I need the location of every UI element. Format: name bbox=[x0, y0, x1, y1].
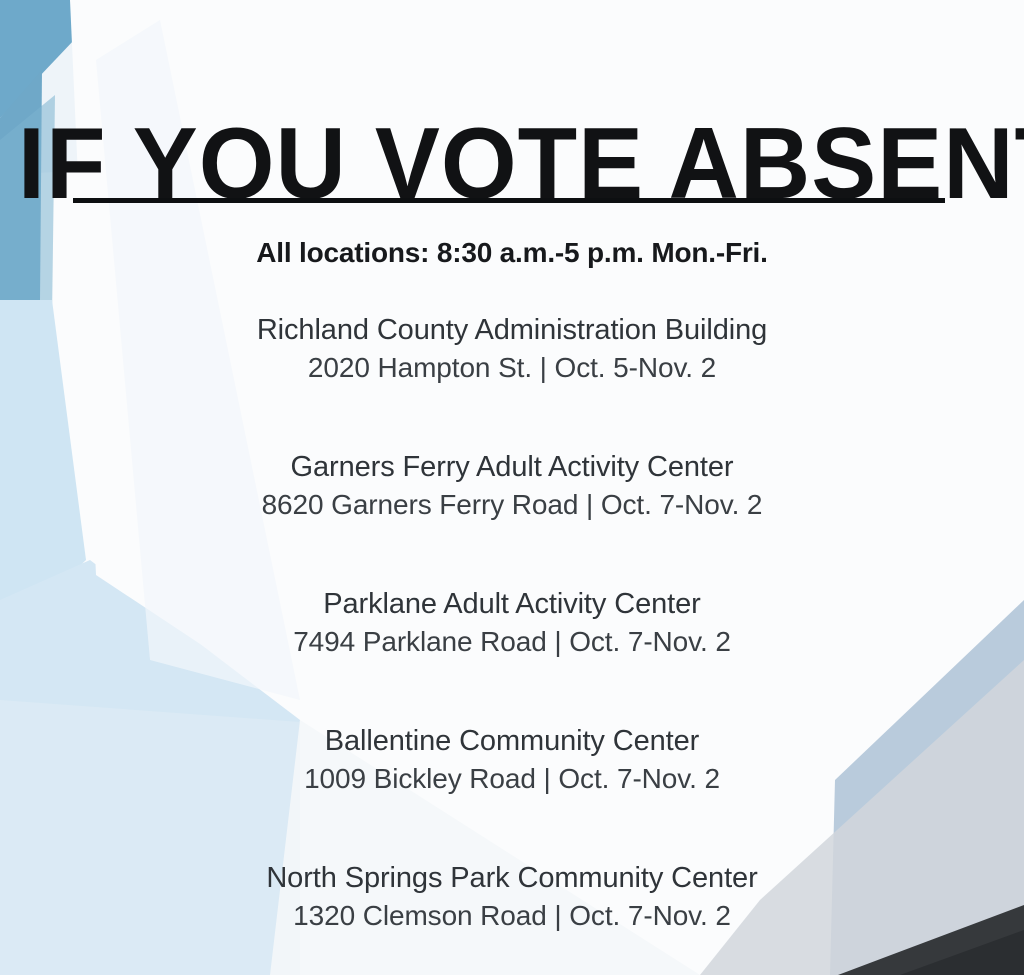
list-item: Richland County Administration Building … bbox=[0, 311, 1024, 386]
location-name: Ballentine Community Center bbox=[0, 722, 1024, 760]
location-detail: 2020 Hampton St. | Oct. 5-Nov. 2 bbox=[0, 349, 1024, 386]
list-item: North Springs Park Community Center 1320… bbox=[0, 859, 1024, 934]
list-item: Garners Ferry Adult Activity Center 8620… bbox=[0, 448, 1024, 523]
title-divider-rule bbox=[73, 198, 945, 203]
location-detail: 1320 Clemson Road | Oct. 7-Nov. 2 bbox=[0, 897, 1024, 934]
location-detail: 1009 Bickley Road | Oct. 7-Nov. 2 bbox=[0, 760, 1024, 797]
location-detail: 8620 Garners Ferry Road | Oct. 7-Nov. 2 bbox=[0, 486, 1024, 523]
hours-subtitle: All locations: 8:30 a.m.-5 p.m. Mon.-Fri… bbox=[0, 236, 1024, 270]
location-name: North Springs Park Community Center bbox=[0, 859, 1024, 897]
location-detail: 7494 Parklane Road | Oct. 7-Nov. 2 bbox=[0, 623, 1024, 660]
list-item: Ballentine Community Center 1009 Bickley… bbox=[0, 722, 1024, 797]
location-name: Garners Ferry Adult Activity Center bbox=[0, 448, 1024, 486]
locations-list: Richland County Administration Building … bbox=[0, 311, 1024, 975]
poster-content: IF YOU VOTE ABSENTEE All locations: 8:30… bbox=[0, 0, 1024, 975]
absentee-voting-poster: IF YOU VOTE ABSENTEE All locations: 8:30… bbox=[0, 0, 1024, 975]
location-name: Parklane Adult Activity Center bbox=[0, 585, 1024, 623]
location-name: Richland County Administration Building bbox=[0, 311, 1024, 349]
list-item: Parklane Adult Activity Center 7494 Park… bbox=[0, 585, 1024, 660]
